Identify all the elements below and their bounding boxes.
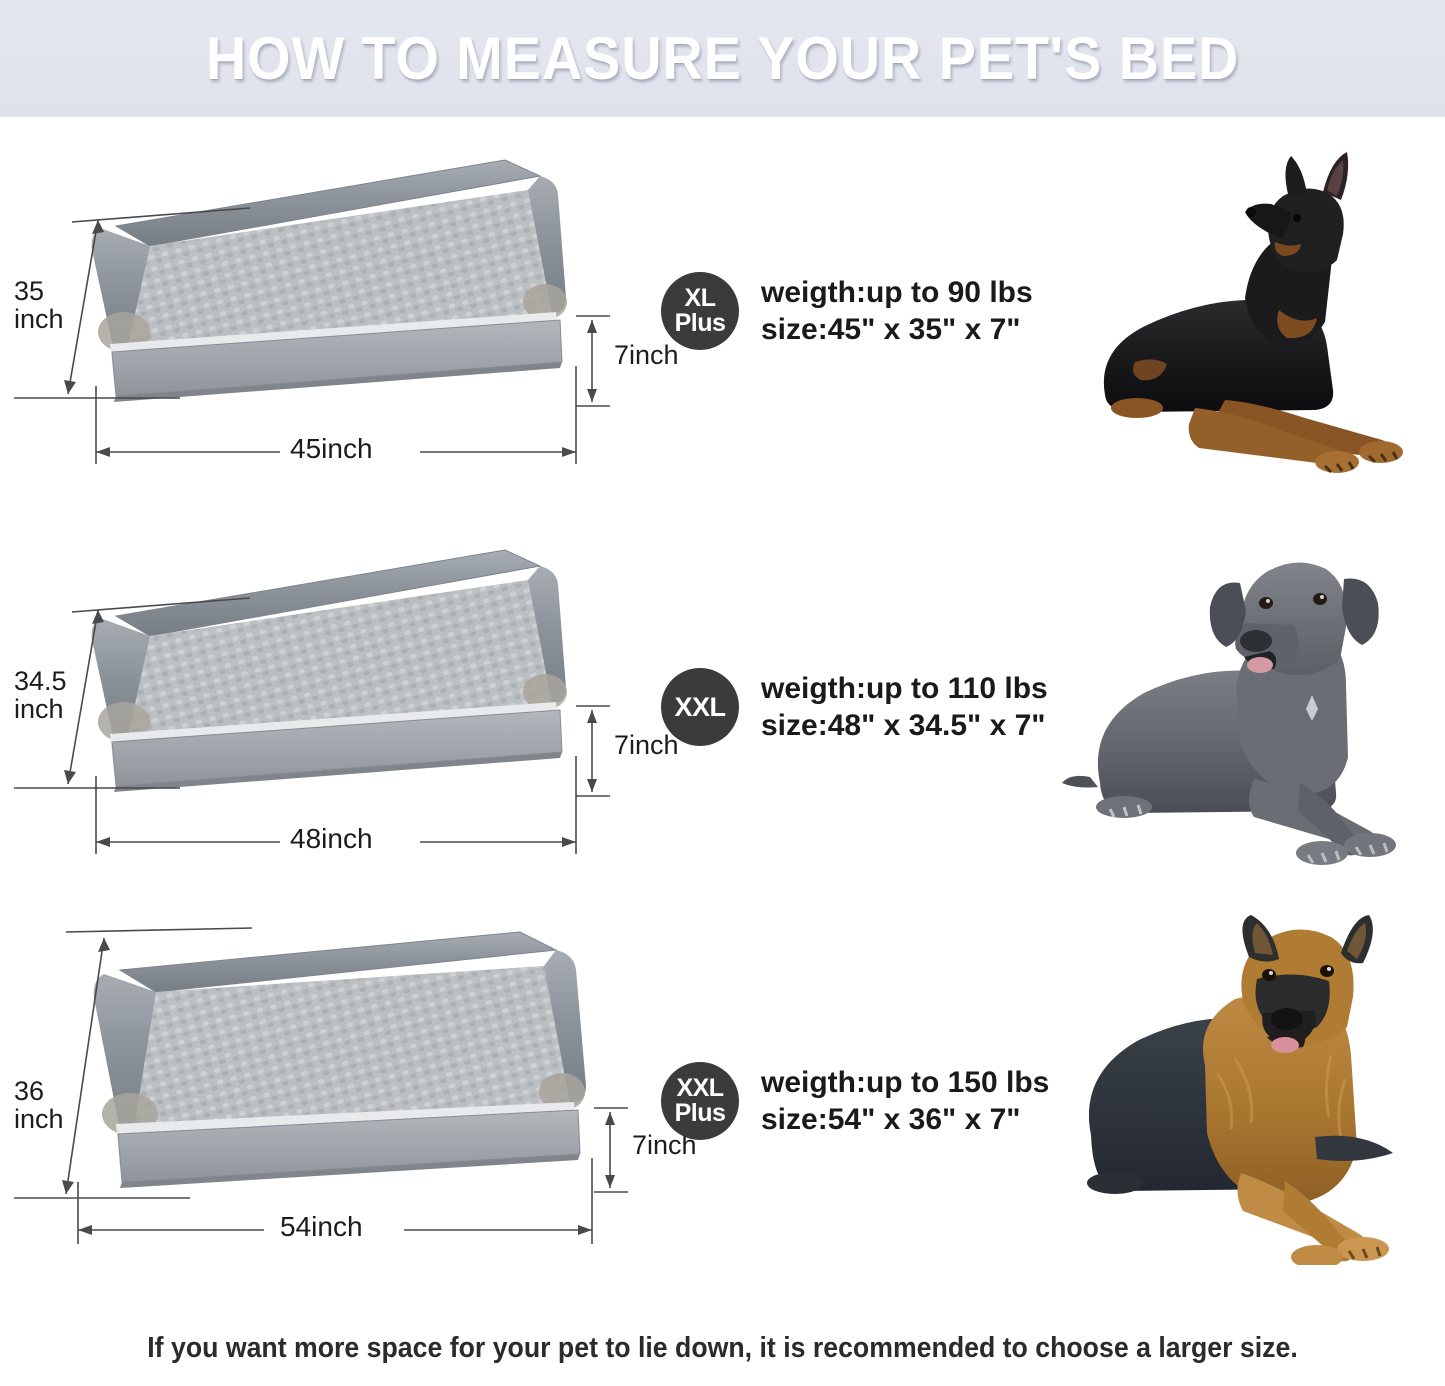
badge-line-1: XXL [676, 1076, 723, 1101]
badge-line-1: XL [685, 286, 716, 311]
bed-illustration-xxl: 34.5 inch 48inch 7inch [0, 520, 700, 910]
size-badge: XL Plus [661, 272, 739, 350]
badge-line-2: Plus [675, 1101, 726, 1126]
dimension-label-width: 45inch [290, 435, 373, 464]
badge-line-2: Plus [675, 311, 726, 336]
size-badge: XXL [661, 668, 739, 746]
spec-weight: weigth:up to 90 lbs [761, 274, 1033, 312]
spec-text: weigth:up to 90 lbs size:45" x 35" x 7" [761, 274, 1033, 349]
spec-size: size:45" x 35" x 7" [761, 311, 1033, 349]
dimension-label-width: 48inch [290, 825, 373, 854]
spec-block-xxl-plus: XXL Plus weigth:up to 150 lbs size:54" x… [661, 1062, 1049, 1140]
spec-size: size:48" x 34.5" x 7" [761, 707, 1048, 745]
spec-text: weigth:up to 150 lbs size:54" x 36" x 7" [761, 1064, 1049, 1139]
dog-photo-doberman [1075, 150, 1445, 480]
page-title: HOW TO MEASURE YOUR PET'S BED [206, 24, 1239, 93]
dog-photo-great-dane [1040, 545, 1420, 875]
great-dane-illustration [1040, 545, 1440, 875]
bed-illustration-xxl-plus: 36 inch 54inch 7inch [0, 910, 700, 1300]
spec-block-xxl: XXL weigth:up to 110 lbs size:48" x 34.5… [661, 668, 1048, 746]
doberman-illustration [1075, 150, 1445, 480]
dimension-label-height: 35 inch [14, 278, 64, 333]
size-row-xxl-plus: 36 inch 54inch 7inch XXL Plus weigth:up … [0, 910, 1445, 1300]
dimension-label-height: 34.5 inch [14, 668, 67, 723]
dimension-label-height: 36 inch [14, 1078, 64, 1133]
size-row-xxl: 34.5 inch 48inch 7inch XXL weigth:up to … [0, 520, 1445, 910]
size-row-xl-plus: 35 inch 45inch 7inch XL Plus weigth:up t… [0, 130, 1445, 520]
footer-note: If you want more space for your pet to l… [58, 1332, 1387, 1365]
badge-line-1: XXL [674, 694, 725, 721]
spec-text: weigth:up to 110 lbs size:48" x 34.5" x … [761, 670, 1048, 745]
header-banner: HOW TO MEASURE YOUR PET'S BED [0, 0, 1445, 117]
bed-illustration-xl-plus: 35 inch 45inch 7inch [0, 130, 700, 520]
spec-size: size:54" x 36" x 7" [761, 1101, 1049, 1139]
spec-block-xl-plus: XL Plus weigth:up to 90 lbs size:45" x 3… [661, 272, 1033, 350]
spec-weight: weigth:up to 110 lbs [761, 670, 1048, 708]
spec-weight: weigth:up to 150 lbs [761, 1064, 1049, 1102]
size-badge: XXL Plus [661, 1062, 739, 1140]
german-shepherd-illustration [1045, 915, 1445, 1265]
dimension-label-width: 54inch [280, 1213, 363, 1242]
dog-photo-german-shepherd [1045, 915, 1425, 1245]
